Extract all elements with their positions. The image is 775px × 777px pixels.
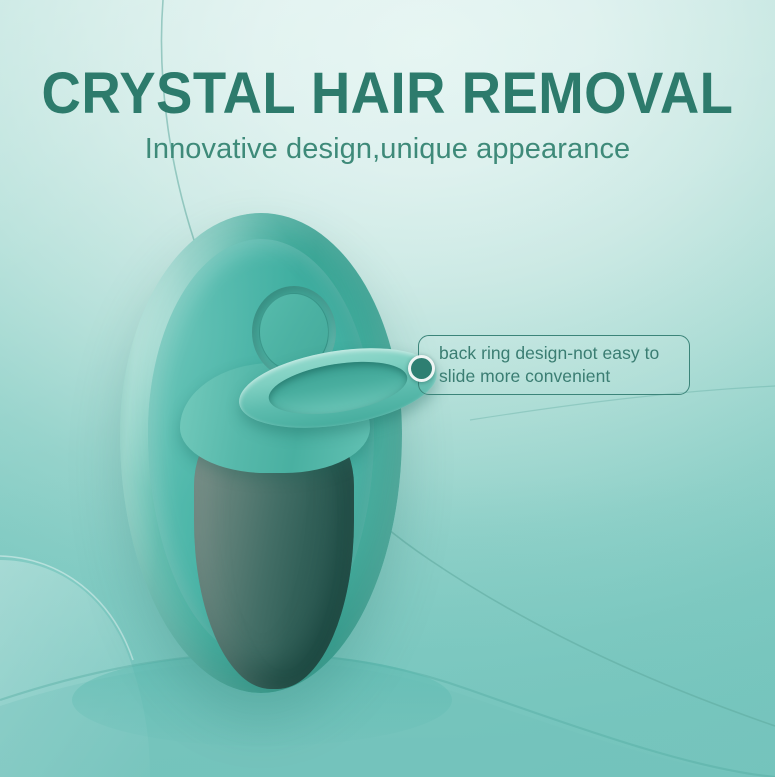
page-title: CRYSTAL HAIR REMOVAL <box>23 63 752 126</box>
feature-callout-text: back ring design-not easy to slide more … <box>439 342 675 388</box>
product-device <box>120 213 402 693</box>
feature-callout: back ring design-not easy to slide more … <box>418 335 690 395</box>
page-subtitle: Innovative design,unique appearance <box>0 133 775 166</box>
promo-banner: CRYSTAL HAIR REMOVAL Innovative design,u… <box>0 0 775 777</box>
callout-dot-icon <box>408 355 435 382</box>
